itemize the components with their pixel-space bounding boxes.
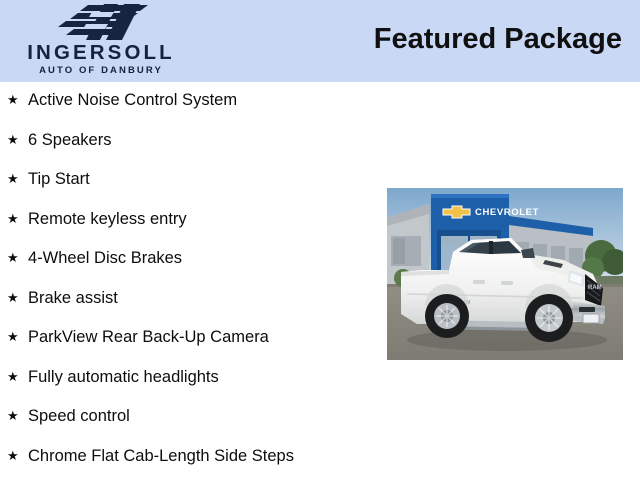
list-item-label: Remote keyless entry [28,210,187,228]
star-bullet-icon: ★ [7,86,19,114]
brand-logo: INGERSOLL AUTO OF DANBURY [0,0,200,82]
star-bullet-icon: ★ [7,126,19,154]
feature-list: ★ Active Noise Control System ★ 6 Speake… [0,86,380,481]
list-item: ★ Active Noise Control System [0,86,380,126]
list-item-label: ParkView Rear Back-Up Camera [28,328,269,346]
brand-name: INGERSOLL [8,43,194,64]
star-bullet-icon: ★ [7,363,19,391]
vehicle-photo: CHEVROLET [387,188,623,360]
list-item-label: 6 Speakers [28,131,111,149]
list-item: ★ Remote keyless entry [0,205,380,245]
page-title: Featured Package [230,22,622,57]
list-item: ★ 4-Wheel Disc Brakes [0,244,380,284]
ingersoll-winged-emblem-icon [48,3,154,41]
header-band: INGERSOLL AUTO OF DANBURY Featured Packa… [0,0,640,82]
star-bullet-icon: ★ [7,402,19,430]
list-item: ★ Speed control [0,402,380,442]
star-bullet-icon: ★ [7,284,19,312]
svg-text:CHEVROLET: CHEVROLET [475,207,539,218]
brand-tagline: AUTO OF DANBURY [8,66,194,76]
list-item: ★ 6 Speakers [0,126,380,166]
list-item: ★ Fully automatic headlights [0,363,380,403]
list-item-label: Fully automatic headlights [28,368,219,386]
list-item-label: Tip Start [28,170,90,188]
list-item: ★ Chrome Flat Cab-Length Side Steps [0,442,380,481]
list-item: ★ Tip Start [0,165,380,205]
star-bullet-icon: ★ [7,244,19,272]
list-item-label: Speed control [28,407,130,425]
svg-text:RAM: RAM [588,285,602,291]
star-bullet-icon: ★ [7,323,19,351]
list-item-label: Brake assist [28,289,118,307]
list-item: ★ Brake assist [0,284,380,324]
list-item-label: Chrome Flat Cab-Length Side Steps [28,447,294,465]
list-item: ★ ParkView Rear Back-Up Camera [0,323,380,363]
star-bullet-icon: ★ [7,205,19,233]
list-item-label: Active Noise Control System [28,91,237,109]
list-item-label: 4-Wheel Disc Brakes [28,249,182,267]
star-bullet-icon: ★ [7,165,19,193]
star-bullet-icon: ★ [7,442,19,470]
